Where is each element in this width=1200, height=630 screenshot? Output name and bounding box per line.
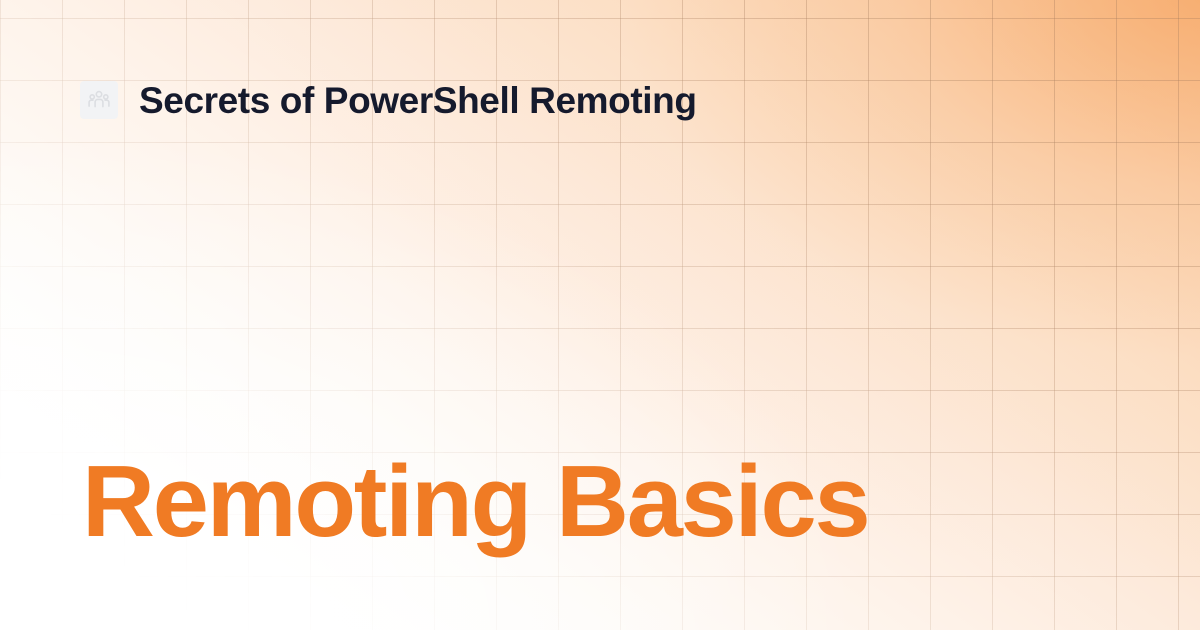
users-group-icon (80, 81, 118, 119)
og-card: Secrets of PowerShell Remoting Remoting … (0, 0, 1200, 630)
brand-title: Secrets of PowerShell Remoting (139, 82, 697, 119)
brand-row: Secrets of PowerShell Remoting (80, 81, 697, 119)
page-title: Remoting Basics (82, 452, 868, 553)
card-content: Secrets of PowerShell Remoting Remoting … (0, 0, 1200, 630)
